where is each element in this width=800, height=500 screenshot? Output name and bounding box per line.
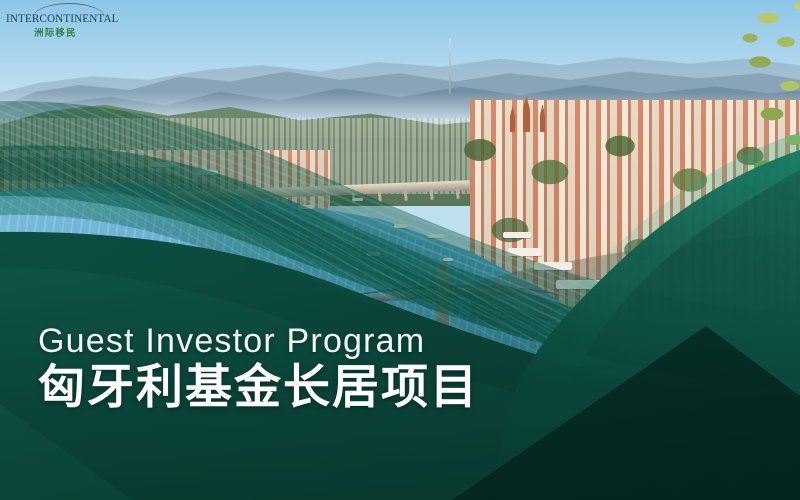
boat [443,258,453,261]
moored-boat [508,248,542,256]
boat [394,224,407,228]
title-chinese: 匈牙利基金长居项目 [38,362,479,412]
title-english: Guest Investor Program [38,322,479,360]
moored-boat [196,170,218,175]
boat [428,234,445,238]
boat [366,252,380,256]
promo-banner: INTERCONTINENTAL 洲际移民 Guest Investor Pro… [0,0,800,500]
moored-boat [150,162,176,167]
title-block: Guest Investor Program 匈牙利基金长居项目 [38,322,479,412]
tv-tower [449,38,451,94]
brand-logo[interactable]: INTERCONTINENTAL 洲际移民 [6,3,116,39]
moored-boat [556,280,600,289]
budapest-panorama-photo [0,0,800,500]
boat [352,198,363,201]
logo-chinese-name: 洲际移民 [34,25,77,39]
moored-boat [534,262,572,270]
boat [298,205,314,209]
logo-wordmark: INTERCONTINENTAL [6,13,116,25]
moored-boat [503,232,531,238]
right-edge-foliage [690,0,800,250]
